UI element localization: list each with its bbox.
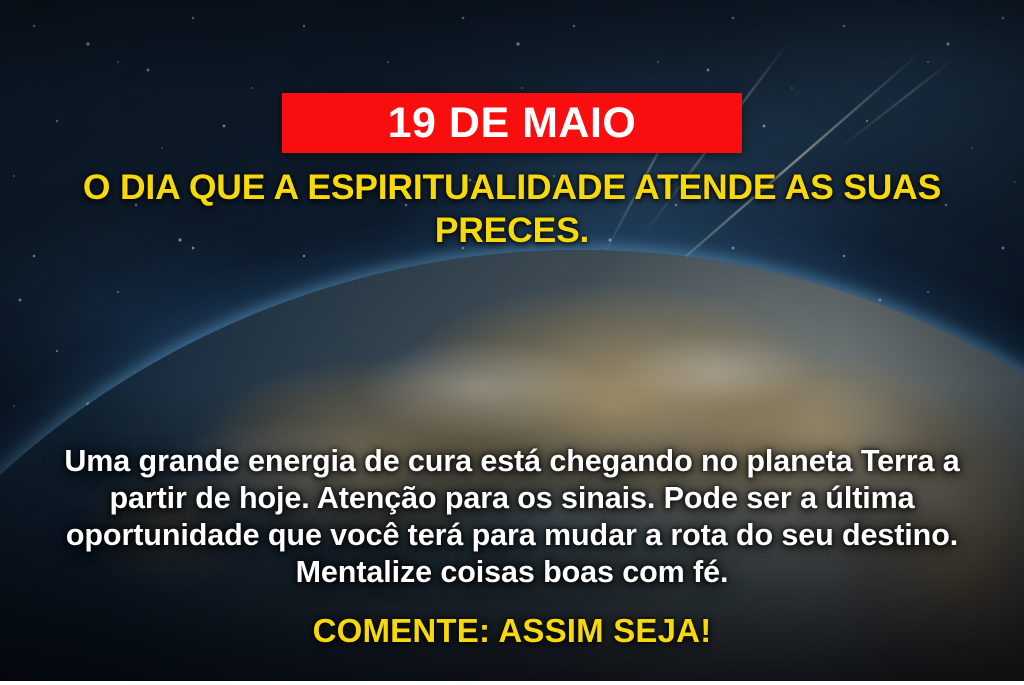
date-banner: 19 DE MAIO xyxy=(282,93,742,153)
headline-text: O DIA QUE A ESPIRITUALIDADE ATENDE AS SU… xyxy=(0,166,1024,253)
call-to-action-text: COMENTE: ASSIM SEJA! xyxy=(0,612,1024,650)
poster-canvas: 19 DE MAIO O DIA QUE A ESPIRITUALIDADE A… xyxy=(0,0,1024,685)
body-paragraph: Uma grande energia de cura está chegando… xyxy=(0,443,1024,591)
date-banner-label: 19 DE MAIO xyxy=(388,102,637,145)
bottom-white-strip xyxy=(0,681,1024,685)
poster-content: 19 DE MAIO O DIA QUE A ESPIRITUALIDADE A… xyxy=(0,0,1024,685)
